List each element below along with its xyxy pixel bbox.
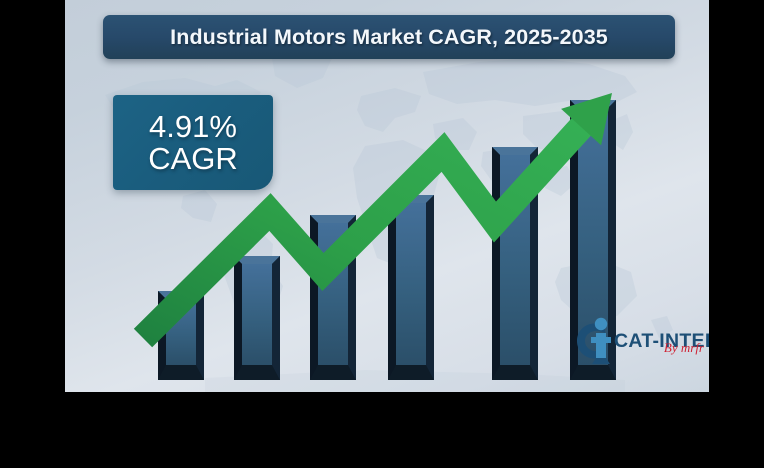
infographic-canvas: Industrial Motors Market CAGR, 2025-2035… bbox=[65, 0, 709, 392]
bar-4 bbox=[388, 195, 434, 380]
page-title: Industrial Motors Market CAGR, 2025-2035 bbox=[170, 25, 608, 50]
bar-2 bbox=[234, 256, 280, 380]
cagr-label: CAGR bbox=[148, 143, 238, 175]
cagr-value: 4.91% bbox=[149, 111, 237, 143]
cat-intel-monogram-icon bbox=[572, 316, 620, 366]
logo-byline: By mrfr bbox=[664, 340, 704, 356]
cagr-callout-box: 4.91% CAGR bbox=[113, 95, 273, 190]
brand-logo: CAT-INTEL By mrfr bbox=[572, 316, 706, 380]
infographic-frame: Industrial Motors Market CAGR, 2025-2035… bbox=[0, 0, 764, 468]
chart-title-plaque: Industrial Motors Market CAGR, 2025-2035 bbox=[103, 15, 675, 59]
